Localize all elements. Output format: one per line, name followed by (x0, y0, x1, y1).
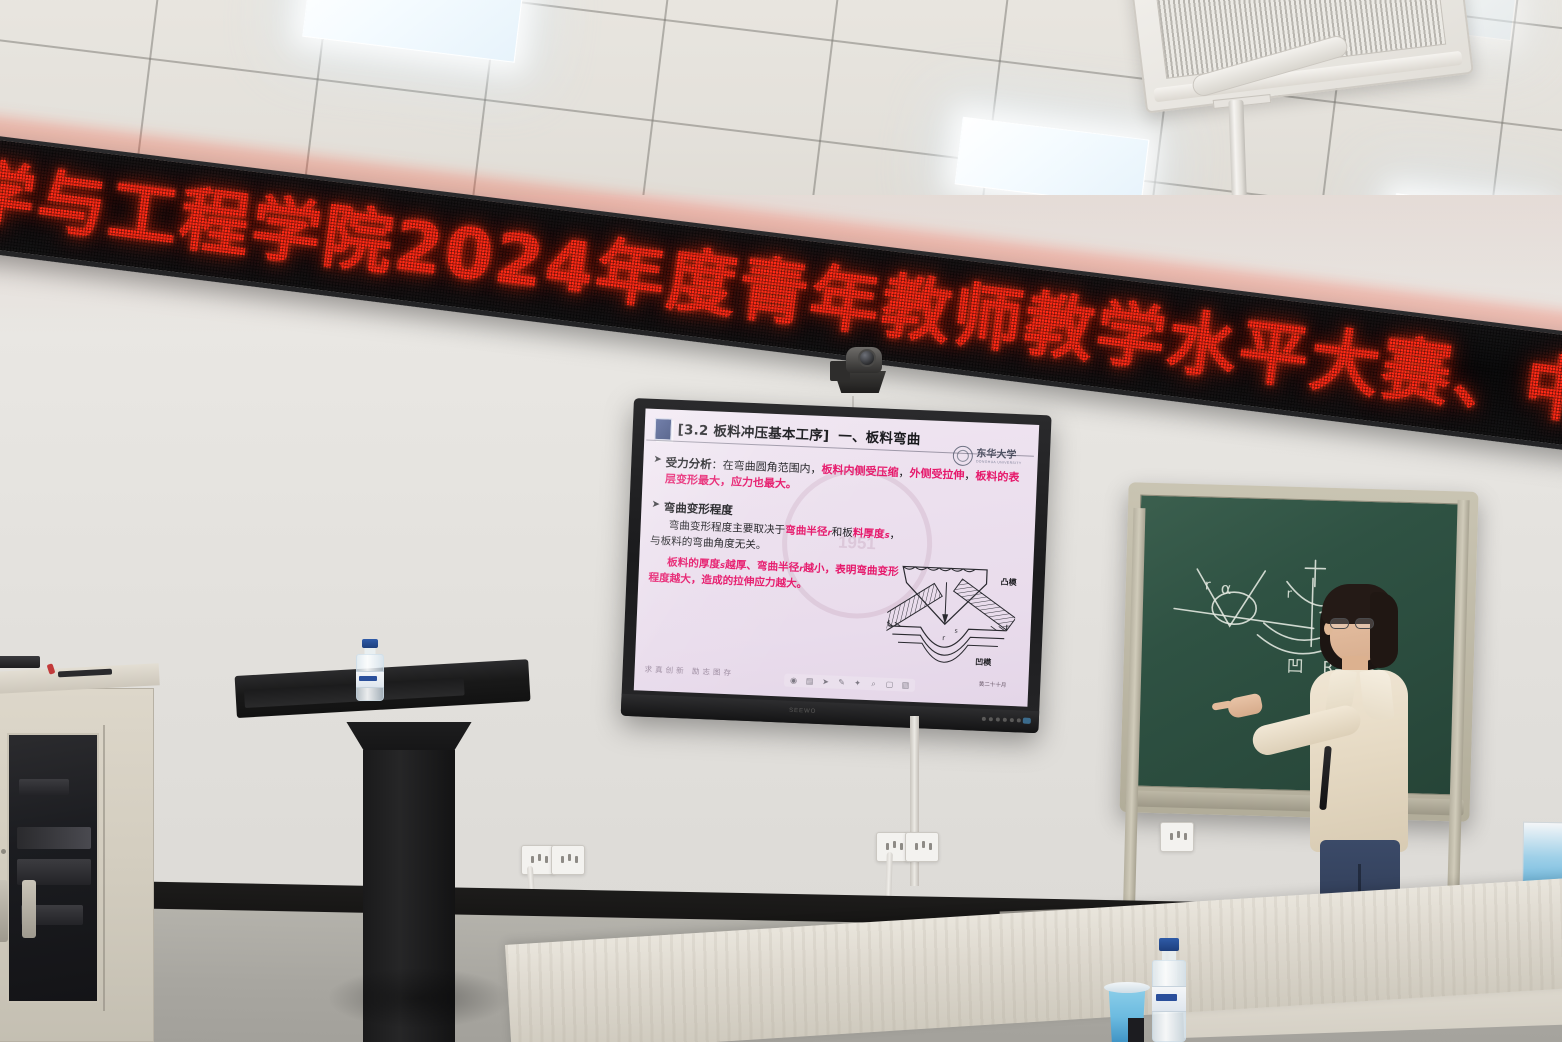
svg-text:s: s (954, 628, 957, 635)
slide-header-icon (654, 418, 672, 441)
pen-icon[interactable]: ✎ (837, 678, 846, 687)
bullet-2-paragraph-1: 弯曲变形程度主要取决于弯曲半径r和板料厚度s，与板料的弯曲角度无关。 (650, 518, 901, 560)
lectern (237, 676, 531, 1042)
display-brand: SEEWO (789, 708, 817, 715)
bullet-1-title: 受力分析 (665, 455, 712, 471)
p2-red1: 板料的厚度 (667, 556, 720, 570)
water-bottle-podium (356, 639, 384, 701)
display-screen[interactable]: 1951 [3.2 板料冲压基本工序]一、板料弯曲 东华大学 DONGHUA U… (634, 408, 1039, 706)
power-outlet-right-2[interactable] (905, 832, 939, 862)
pointer-icon[interactable]: ➤ (821, 677, 830, 686)
floor-speaker (0, 880, 8, 942)
punch-label: 凸模 (1000, 577, 1016, 589)
university-seal-icon (953, 445, 974, 466)
p2-red2: 越厚、弯曲半径 (725, 559, 800, 574)
university-logo: 东华大学 DONGHUA UNIVERSITY (953, 445, 1022, 468)
slide-body: ➤ 受力分析：在弯曲圆角范围内，板料内侧受压缩，外侧受拉伸，板料的表层变形最大，… (648, 454, 1027, 602)
display-ir-receiver (1023, 718, 1031, 724)
presenter-view-icon[interactable]: ◉ (789, 676, 798, 685)
display-bezel: 1951 [3.2 板料冲压基本工序]一、板料弯曲 东华大学 DONGHUA U… (621, 398, 1052, 733)
power-outlet-left-2[interactable] (551, 845, 585, 875)
display-buttons[interactable] (982, 717, 1021, 723)
die-diagram-svg: r s (884, 560, 1017, 687)
diagram-signature: 黄二十十月 (979, 680, 1007, 689)
university-name-en: DONGHUA UNIVERSITY (976, 459, 1022, 465)
items-on-cabinet (0, 668, 116, 686)
bullet-marker-icon: ➤ (653, 454, 662, 467)
presenter-hair-side (1370, 592, 1398, 668)
die-label: 凹模 (975, 657, 991, 669)
zoom-icon[interactable]: ⌕ (869, 679, 878, 688)
svg-text:r: r (1205, 577, 1211, 593)
cabinet-handle[interactable] (1, 849, 6, 854)
presentation-slide: 1951 [3.2 板料冲压基本工序]一、板料弯曲 东华大学 DONGHUA U… (634, 408, 1039, 706)
av-equipment-cabinet (0, 672, 160, 1042)
water-bottle-desk (1152, 938, 1186, 1042)
slide-footer: 求真创新 励志图存 (644, 664, 734, 679)
bullet-1-red1: 板料内侧受压缩 (821, 463, 898, 479)
menu-icon[interactable]: ▥ (901, 680, 910, 689)
p1-red2: 料厚度 (853, 527, 885, 540)
comment-icon[interactable]: ▢ (885, 680, 894, 689)
paper-cup-shadow (1128, 1018, 1144, 1042)
svg-text:α: α (1220, 579, 1231, 598)
svg-text:r: r (942, 634, 945, 642)
bullet-1-run1: 在弯曲圆角范围内， (722, 459, 821, 476)
bullet-2-title: 弯曲变形程度 (664, 499, 734, 518)
slideshow-icon[interactable]: ▤ (805, 676, 814, 685)
cabinet-body (0, 688, 154, 1042)
slide-title-subtitle: 一、板料弯曲 (838, 429, 921, 448)
slide-header: [3.2 板料冲压基本工序]一、板料弯曲 东华大学 DONGHUA UNIVER… (654, 417, 1029, 456)
cabinet-glass-door[interactable] (7, 733, 99, 1003)
presenter-glasses (1330, 618, 1374, 630)
wall-ptz-camera (828, 343, 890, 399)
v-bending-die-diagram: r s 凸模 凹模 黄二十十月 (884, 560, 1017, 687)
p1-b: 和板 (831, 526, 853, 539)
classroom-scene: EPSON 料科学与工程学院2024年度青年教师教学水平大赛、中青年教师双语教学… (0, 0, 1562, 1042)
highlighter-icon[interactable]: ✦ (853, 678, 862, 687)
floor-speaker (22, 880, 36, 938)
interactive-display[interactable]: 1951 [3.2 板料冲压基本工序]一、板料弯曲 东华大学 DONGHUA U… (621, 398, 1052, 733)
p1-a: 弯曲变形程度主要取决于 (668, 519, 785, 536)
bullet-marker-icon: ➤ (651, 499, 660, 512)
bullet-2-paragraph-2: 板料的厚度s越厚、弯曲半径r越小，表明弯曲变形程度越大，造成的拉伸应力越大。 (648, 554, 899, 596)
slide-title: [3.2 板料冲压基本工序]一、板料弯曲 (677, 418, 921, 448)
power-outlet-far-right[interactable] (1160, 822, 1194, 852)
p1-red1: 弯曲半径 (785, 524, 828, 538)
paper-cup-rim (1104, 982, 1150, 993)
bullet-1-red2: 外侧受拉伸 (909, 467, 964, 482)
